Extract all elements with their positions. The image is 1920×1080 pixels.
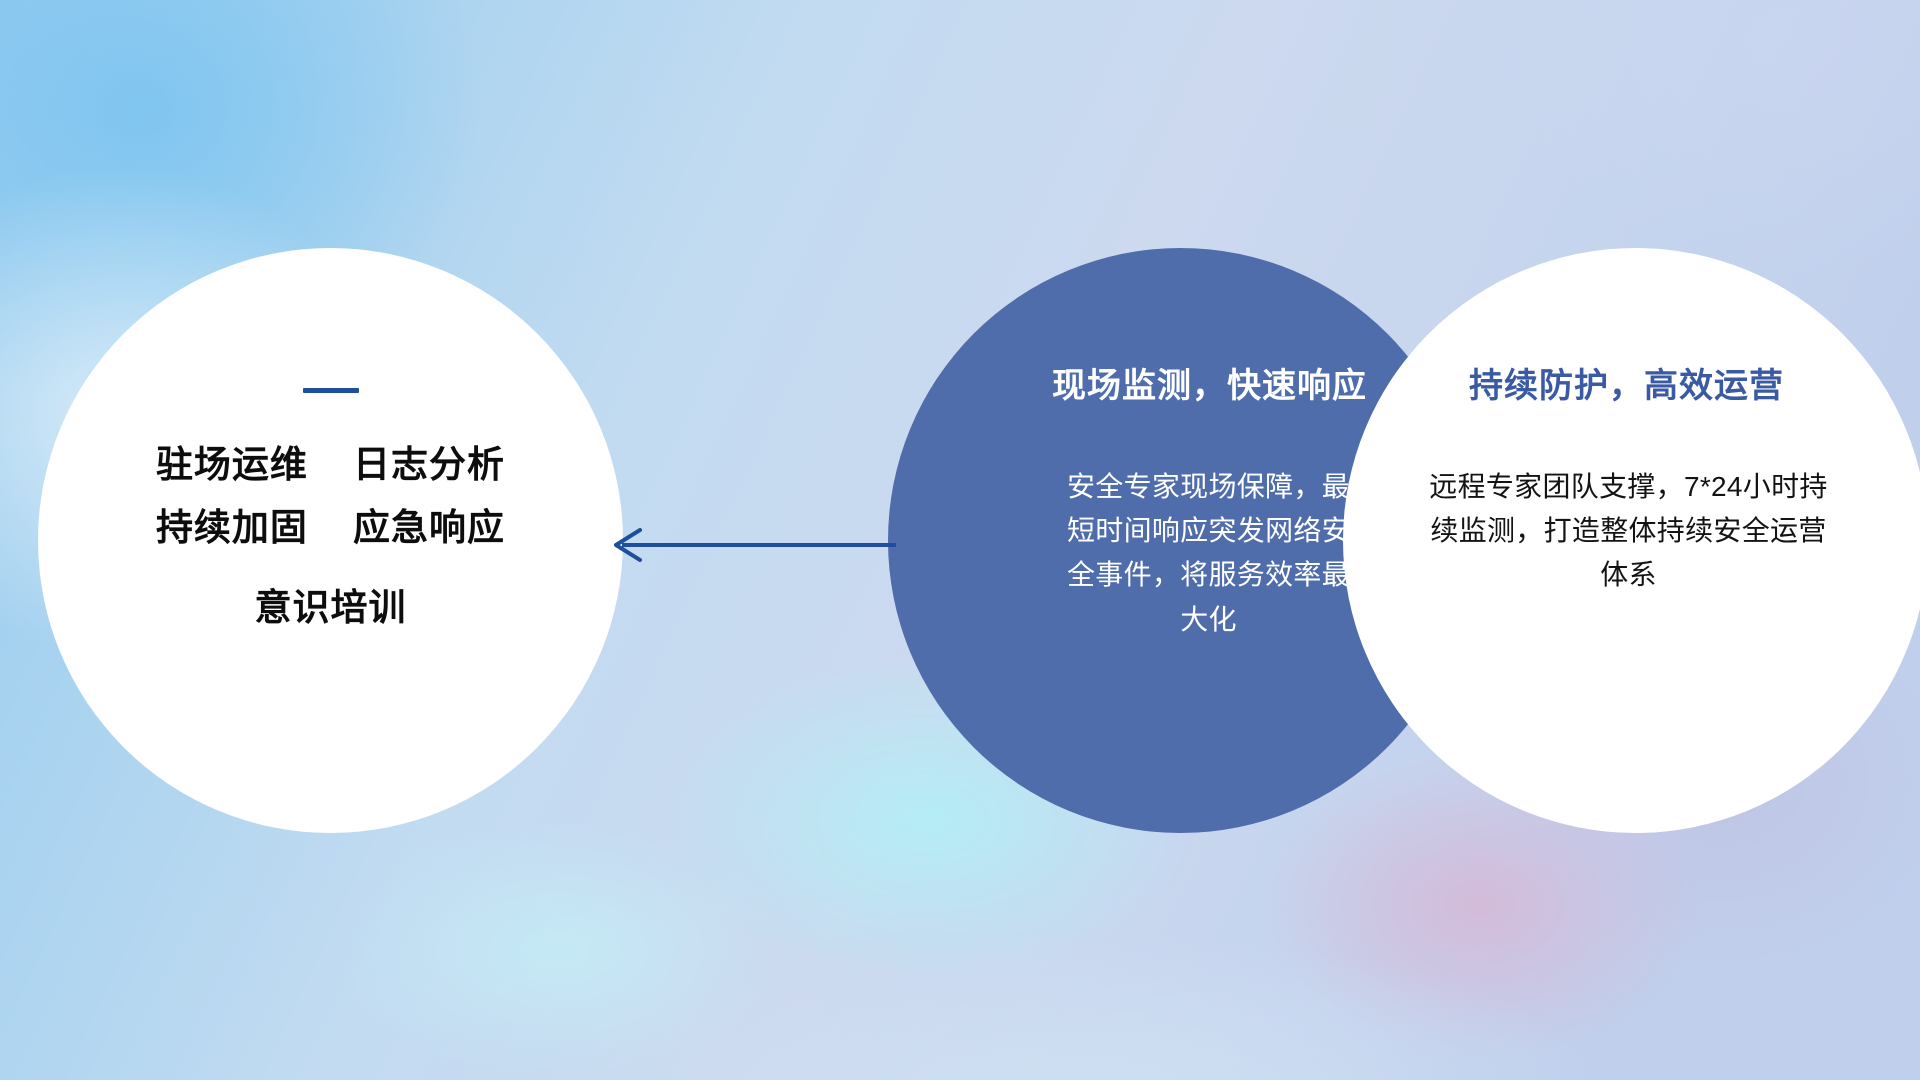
- slide-canvas: 驻场运维 日志分析 持续加固 应急响应 意识培训 现场监测，快速响应 安全专家现…: [0, 0, 1920, 1080]
- left-circle-keyword-list: 驻场运维 日志分析 持续加固 应急响应 意识培训: [156, 445, 505, 629]
- middle-circle-title: 现场监测，快速响应: [1052, 358, 1367, 407]
- left-circle-keyword-line-2: 持续加固 应急响应: [156, 508, 505, 549]
- middle-circle-body: 安全专家现场保障，最短时间响应突发网络安全事件，将服务效率最大化: [1059, 465, 1359, 642]
- right-circle-content: 持续防护，高效运营 远程专家团队支撑，7*24小时持续监测，打造整体持续安全运营…: [1343, 248, 1920, 833]
- left-circle-keyword-line-1: 驻场运维 日志分析: [156, 445, 505, 486]
- right-circle-body: 远程专家团队支撑，7*24小时持续监测，打造整体持续安全运营体系: [1424, 465, 1834, 598]
- left-circle-keyword-line-3: 意识培训: [255, 588, 407, 629]
- right-circle-title: 持续防护，高效运营: [1469, 358, 1784, 407]
- accent-dash: [303, 388, 359, 393]
- connector-arrow: [600, 515, 900, 575]
- left-circle-content: 驻场运维 日志分析 持续加固 应急响应 意识培训: [38, 248, 623, 833]
- arrow-left-icon: [600, 515, 900, 575]
